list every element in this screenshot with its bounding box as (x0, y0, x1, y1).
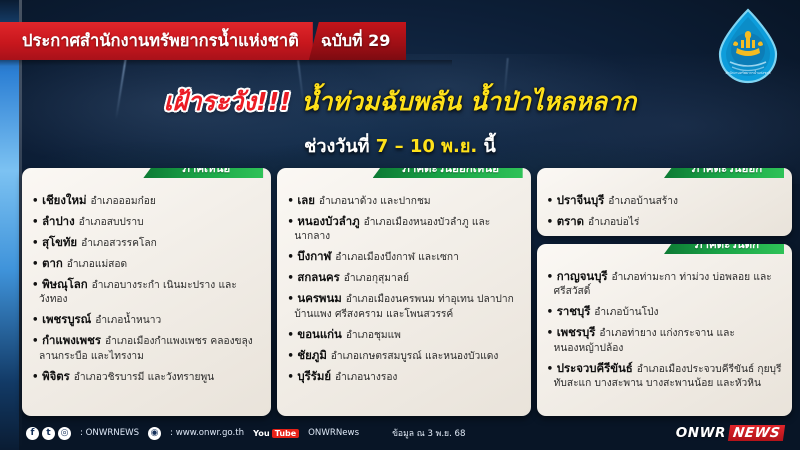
bullet-icon: • (547, 217, 557, 228)
social-handle: : ONWRNEWS (80, 428, 139, 438)
headline-block: เฝ้าระวัง!!! น้ำท่วมฉับพลัน น้ำป่าไหลหลา… (0, 82, 800, 160)
district-list: อำเภอสบปราบ (79, 217, 144, 228)
poster-root: ประกาศสำนักงานทรัพยากรน้ำแห่งชาติ ฉบับที… (0, 0, 800, 450)
section-title-north: ภาคเหนือ (182, 168, 230, 178)
district-list: อำเภอออมก๋อย (90, 196, 155, 207)
province-name: สุโขทัย (42, 235, 81, 249)
bullet-icon: • (287, 273, 297, 284)
card-north: ภาคเหนือ • เชียงใหม่ อำเภอออมก๋อย• ลำปาง… (22, 168, 271, 416)
list-item: • เพชรบุรี อำเภอท่ายาง แก่งกระจาน และหนอ… (547, 324, 783, 356)
social-icon-group: f t ◎ (26, 427, 71, 440)
province-name: ขอนแก่น (297, 327, 345, 341)
province-name: เพชรบูรณ์ (42, 312, 95, 326)
province-name: สกลนคร (297, 270, 343, 284)
bullet-icon: • (287, 372, 297, 383)
list-item: • เชียงใหม่ อำเภอออมก๋อย (32, 192, 262, 209)
instagram-icon[interactable]: ◎ (58, 427, 71, 440)
district-list: อำเภอนาด้วง และปากชม (319, 196, 431, 207)
district-list: อำเภอชุมแพ (346, 330, 401, 341)
list-item: • ประจวบคีรีขันธ์ อำเภอเมืองประจวบคีรีขั… (547, 360, 783, 392)
bullet-icon: • (547, 307, 557, 318)
header-band-shadow (0, 60, 452, 66)
district-list: อำเภอบ่อไร่ (588, 217, 639, 228)
district-list: อำเภอน้ำหนาว (95, 315, 161, 326)
section-header-north: ภาคเหนือ (143, 168, 263, 178)
card-west: ภาคตะวันตก • กาญจนบุรี อำเภอท่ามะกา ท่าม… (537, 244, 792, 416)
district-list: อำเภอแม่สอด (67, 259, 127, 270)
list-item: • ตราด อำเภอบ่อไร่ (547, 213, 783, 230)
region-cards-container: ภาคเหนือ • เชียงใหม่ อำเภอออมก๋อย• ลำปาง… (22, 168, 792, 416)
bullet-icon: • (287, 294, 297, 305)
province-name: บุรีรัมย์ (297, 369, 335, 383)
headline-subline: ช่วงวันที่ 7 – 10 พ.ย. นี้ (0, 131, 800, 160)
list-item: • ปราจีนบุรี อำเภอบ้านสร้าง (547, 192, 783, 209)
alert-warning-text: เฝ้าระวัง!!! (164, 82, 292, 122)
province-name: ชัยภูมิ (297, 348, 330, 362)
column-northeast: ภาคตะวันออกเหนือ • เลย อำเภอนาด้วง และปา… (277, 168, 530, 416)
province-name: พิจิตร (42, 369, 74, 383)
section-title-northeast: ภาคตะวันออกเหนือ (402, 168, 499, 178)
twitter-icon[interactable]: t (42, 427, 55, 440)
header-banner: ประกาศสำนักงานทรัพยากรน้ำแห่งชาติ ฉบับที… (0, 22, 452, 60)
column-east-west: ภาคตะวันออก • ปราจีนบุรี อำเภอบ้านสร้าง•… (537, 168, 792, 416)
section-title-east: ภาคตะวันออก (692, 168, 762, 178)
list-item: • ขอนแก่น อำเภอชุมแพ (287, 326, 521, 343)
list-item: • ลำปาง อำเภอสบปราบ (32, 213, 262, 230)
province-name: กาญจนบุรี (557, 269, 612, 283)
globe-icon[interactable]: ◉ (148, 427, 161, 440)
subline-prefix: ช่วงวันที่ (304, 136, 369, 157)
bullet-icon: • (32, 336, 42, 347)
province-name: ปราจีนบุรี (557, 193, 609, 207)
subline-dates: 7 – 10 พ.ย. (376, 136, 477, 157)
province-name: พิษณุโลก (42, 277, 92, 291)
bullet-icon: • (287, 196, 297, 207)
list-item: • สกลนคร อำเภอกุสุมาลย์ (287, 269, 521, 286)
card-northeast: ภาคตะวันออกเหนือ • เลย อำเภอนาด้วง และปา… (277, 168, 530, 416)
issue-number: ฉบับที่ 29 (321, 29, 391, 54)
youtube-tube-label: Tube (272, 429, 299, 438)
province-name: ตาก (42, 256, 67, 270)
bullet-icon: • (287, 351, 297, 362)
list-item: • หนองบัวลำภู อำเภอเมืองหนองบัวลำภู และน… (287, 213, 521, 245)
province-name: นครพนม (297, 291, 345, 305)
list-item: • สุโขทัย อำเภอสวรรคโลก (32, 234, 262, 251)
list-item: • ราชบุรี อำเภอบ้านโป่ง (547, 303, 783, 320)
list-item: • ตาก อำเภอแม่สอด (32, 255, 262, 272)
header-title-band: ประกาศสำนักงานทรัพยากรน้ำแห่งชาติ (0, 22, 313, 60)
list-item: • พิษณุโลก อำเภอบางระกำ เนินมะปราง และวั… (32, 276, 262, 308)
onwr-water-drop-emblem: สำนักงานทรัพยากรน้ำแห่งชาติ (710, 6, 786, 84)
section-header-east: ภาคตะวันออก (664, 168, 784, 178)
bullet-icon: • (32, 217, 42, 228)
list-item: • กาญจนบุรี อำเภอท่ามะกา ท่าม่วง บ่อพลอย… (547, 268, 783, 300)
bullet-icon: • (32, 196, 42, 207)
item-list-west: • กาญจนบุรี อำเภอท่ามะกา ท่าม่วง บ่อพลอย… (547, 268, 783, 392)
website-url[interactable]: : www.onwr.go.th (170, 428, 244, 438)
youtube-icon[interactable]: You Tube (253, 428, 299, 438)
province-name: บึงกาฬ (297, 249, 335, 263)
brand-secondary: NEWS (728, 425, 785, 441)
district-list: อำเภอเกษตรสมบูรณ์ และหนองบัวแดง (331, 351, 499, 362)
list-item: • บึงกาฬ อำเภอเมืองบึงกาฬ และเซกา (287, 248, 521, 265)
province-name: เพชรบุรี (557, 325, 600, 339)
bullet-icon: • (32, 259, 42, 270)
district-list: อำเภอวชิรบารมี และวังทรายพูน (74, 372, 214, 383)
item-list-east: • ปราจีนบุรี อำเภอบ้านสร้าง• ตราด อำเภอบ… (547, 192, 783, 230)
item-list-northeast: • เลย อำเภอนาด้วง และปากชม• หนองบัวลำภู … (287, 192, 521, 385)
list-item: • ชัยภูมิ อำเภอเกษตรสมบูรณ์ และหนองบัวแด… (287, 347, 521, 364)
column-north: ภาคเหนือ • เชียงใหม่ อำเภอออมก๋อย• ลำปาง… (22, 168, 271, 416)
onwr-news-brand: ONWR NEWS (676, 425, 800, 441)
district-list: อำเภอกุสุมาลย์ (344, 273, 409, 284)
page-title: ประกาศสำนักงานทรัพยากรน้ำแห่งชาติ (22, 28, 299, 54)
bullet-icon: • (32, 372, 42, 383)
section-title-west: ภาคตะวันตก (695, 244, 759, 254)
district-list: อำเภอบ้านโป่ง (594, 307, 658, 318)
bullet-icon: • (547, 196, 557, 207)
section-header-northeast: ภาคตะวันออกเหนือ (373, 168, 523, 178)
province-name: กำแพงเพชร (42, 333, 105, 347)
bullet-icon: • (32, 315, 42, 326)
section-header-west: ภาคตะวันตก (664, 244, 784, 254)
list-item: • เพชรบูรณ์ อำเภอน้ำหนาว (32, 311, 262, 328)
item-list-north: • เชียงใหม่ อำเภอออมก๋อย• ลำปาง อำเภอสบป… (32, 192, 262, 385)
youtube-handle: ONWRNews (308, 428, 359, 438)
province-name: เลย (297, 193, 319, 207)
bullet-icon: • (547, 272, 557, 283)
list-item: • พิจิตร อำเภอวชิรบารมี และวังทรายพูน (32, 368, 262, 385)
bullet-icon: • (547, 364, 557, 375)
subline-suffix: นี้ (484, 136, 496, 157)
district-list: อำเภอบ้านสร้าง (608, 196, 678, 207)
svg-text:สำนักงานทรัพยากรน้ำแห่งชาติ: สำนักงานทรัพยากรน้ำแห่งชาติ (726, 70, 771, 75)
data-date-info: ข้อมูล ณ 3 พ.ย. 68 (392, 426, 465, 440)
bullet-icon: • (32, 280, 42, 291)
youtube-you-label: You (253, 428, 270, 438)
headline-row: เฝ้าระวัง!!! น้ำท่วมฉับพลัน น้ำป่าไหลหลา… (0, 82, 800, 122)
province-name: ลำปาง (42, 214, 79, 228)
footer-bar: f t ◎ : ONWRNEWS ◉ : www.onwr.go.th You … (0, 416, 800, 450)
district-list: อำเภอเมืองบึงกาฬ และเซกา (335, 252, 459, 263)
headline-main-text: น้ำท่วมฉับพลัน น้ำป่าไหลหลาก (301, 82, 636, 122)
bullet-icon: • (287, 330, 297, 341)
province-name: เชียงใหม่ (42, 193, 90, 207)
bullet-icon: • (287, 217, 297, 228)
province-name: ประจวบคีรีขันธ์ (557, 361, 637, 375)
card-east: ภาคตะวันออก • ปราจีนบุรี อำเภอบ้านสร้าง•… (537, 168, 792, 236)
bullet-icon: • (287, 252, 297, 263)
bullet-icon: • (32, 238, 42, 249)
facebook-icon[interactable]: f (26, 427, 39, 440)
brand-primary: ONWR (676, 425, 726, 441)
left-blue-rail (0, 0, 19, 450)
footer-left-group: f t ◎ : ONWRNEWS ◉ : www.onwr.go.th You … (0, 426, 676, 440)
list-item: • บุรีรัมย์ อำเภอนางรอง (287, 368, 521, 385)
list-item: • นครพนม อำเภอเมืองนครพนม ท่าอุเทน ปลาปา… (287, 290, 521, 322)
list-item: • กำแพงเพชร อำเภอเมืองกำแพงเพชร คลองขลุง… (32, 332, 262, 364)
province-name: หนองบัวลำภู (297, 214, 363, 228)
province-name: ตราด (557, 214, 588, 228)
district-list: อำเภอนางรอง (335, 372, 397, 383)
list-item: • เลย อำเภอนาด้วง และปากชม (287, 192, 521, 209)
issue-number-band: ฉบับที่ 29 (309, 22, 407, 60)
bullet-icon: • (547, 328, 557, 339)
district-list: อำเภอสวรรคโลก (81, 238, 157, 249)
province-name: ราชบุรี (557, 304, 595, 318)
